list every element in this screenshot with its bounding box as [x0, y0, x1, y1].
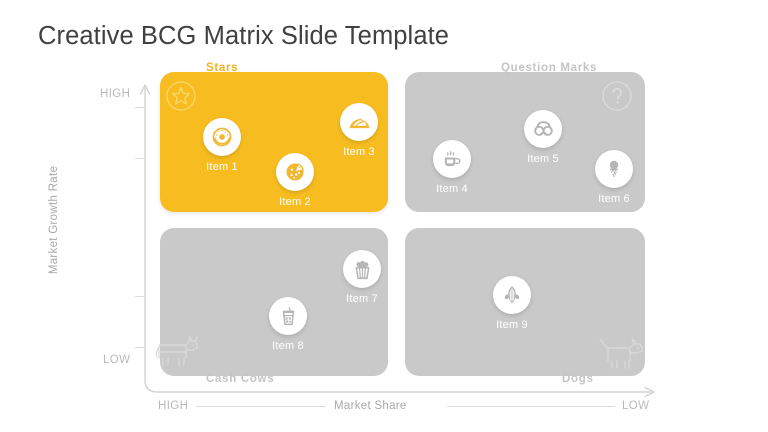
soda-cup-icon [278, 306, 299, 327]
item-label: Item 3 [343, 146, 375, 158]
quadrant-label-question-marks: Question Marks [501, 62, 597, 74]
x-axis-low-label: LOW [622, 400, 649, 412]
quadrant-label-stars: Stars [206, 62, 238, 74]
matrix-item-3[interactable]: Item 3 [337, 103, 381, 158]
matrix-item-7[interactable]: Item 7 [340, 250, 384, 305]
coffee-cup-icon [441, 148, 463, 170]
x-axis-tick-rule [196, 406, 326, 407]
star-icon [165, 80, 197, 112]
item-icon-container[interactable] [340, 103, 378, 141]
item-label: Item 5 [527, 153, 559, 165]
item-label: Item 8 [272, 340, 304, 352]
donut-icon [211, 126, 233, 148]
y-axis-title: Market Growth Rate [48, 140, 60, 300]
cow-icon [152, 331, 204, 371]
item-icon-container[interactable] [203, 118, 241, 156]
y-axis-tick-rule [135, 347, 145, 348]
item-icon-container[interactable] [276, 153, 314, 191]
item-label: Item 7 [346, 293, 378, 305]
y-axis-tick-rule [135, 107, 145, 108]
page-title: Creative BCG Matrix Slide Template [38, 22, 449, 51]
ice-cream-icon [603, 158, 625, 180]
matrix-item-8[interactable]: Item 8 [266, 297, 310, 352]
matrix-item-1[interactable]: Item 1 [200, 118, 244, 173]
item-icon-container[interactable] [343, 250, 381, 288]
x-axis-title: Market Share [334, 400, 407, 412]
y-axis-tick-rule [135, 158, 145, 159]
y-axis-low-label: LOW [103, 354, 130, 366]
taco-icon [348, 111, 371, 134]
item-icon-container[interactable] [524, 110, 562, 148]
quadrant-label-cash-cows: Cash Cows [206, 373, 274, 385]
item-label: Item 4 [436, 183, 468, 195]
item-icon-container[interactable] [433, 140, 471, 178]
matrix-item-6[interactable]: Item 6 [592, 150, 636, 205]
pretzel-icon [532, 118, 555, 141]
pizza-icon [284, 161, 306, 183]
item-icon-container[interactable] [269, 297, 307, 335]
item-label: Item 2 [279, 196, 311, 208]
item-label: Item 6 [598, 193, 630, 205]
dog-icon [594, 331, 646, 373]
matrix-item-2[interactable]: Item 2 [273, 153, 317, 208]
item-icon-container[interactable] [595, 150, 633, 188]
item-label: Item 9 [496, 319, 528, 331]
matrix-item-5[interactable]: Item 5 [521, 110, 565, 165]
x-axis-high-label: HIGH [158, 400, 188, 412]
x-axis-tick-rule [447, 406, 615, 407]
item-icon-container[interactable] [493, 276, 531, 314]
question-mark-icon [601, 80, 633, 112]
y-axis-high-label: HIGH [100, 88, 130, 100]
popcorn-icon [351, 258, 374, 281]
item-label: Item 1 [206, 161, 238, 173]
matrix-item-9[interactable]: Item 9 [490, 276, 534, 331]
corn-icon [501, 284, 523, 306]
matrix-item-4[interactable]: Item 4 [430, 140, 474, 195]
y-axis-tick-rule [135, 296, 145, 297]
quadrant-label-dogs: Dogs [562, 373, 594, 385]
